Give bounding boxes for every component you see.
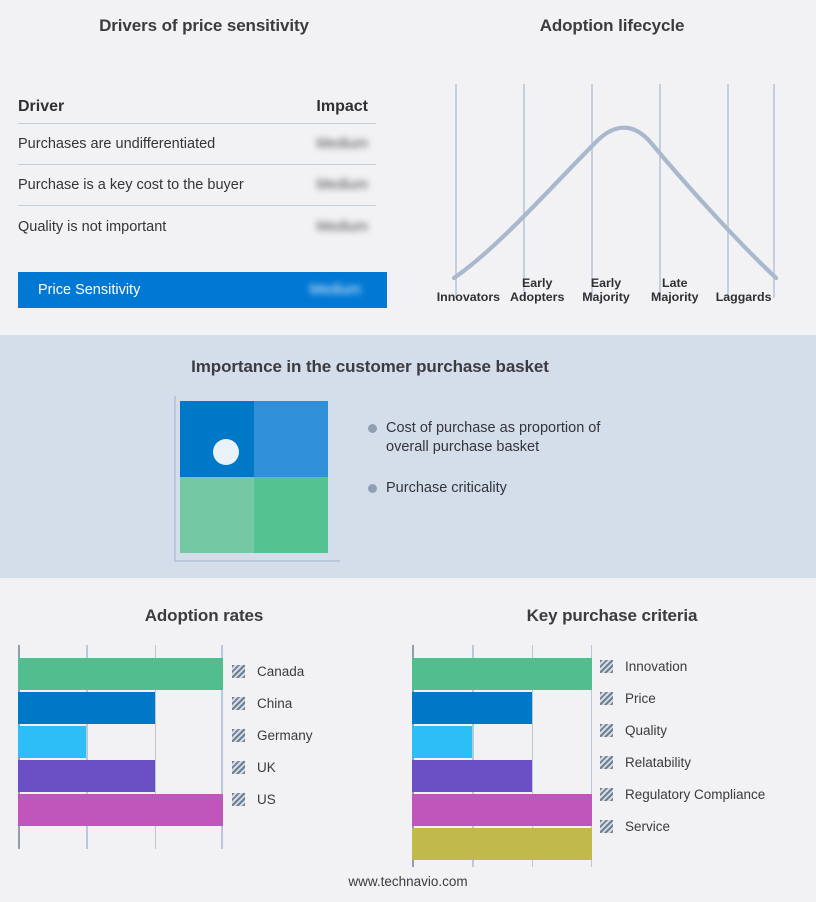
drivers-panel-title: Drivers of price sensitivity xyxy=(0,16,408,36)
legend-label: Relatability xyxy=(625,755,691,770)
lifecycle-stage-labels: Innovators Early Adopters Early Majority… xyxy=(434,264,778,306)
legend-label: Cost of purchase as proportion of overal… xyxy=(386,419,644,457)
stage-label-laggards: Laggards xyxy=(709,264,778,306)
legend-item-regulatory-compliance: Regulatory Compliance xyxy=(600,778,810,810)
list-item: Purchase criticality xyxy=(368,479,668,498)
legend-label: Purchase criticality xyxy=(386,479,507,498)
bar-row-canada xyxy=(18,658,223,690)
purchase-criteria-title: Key purchase criteria xyxy=(408,606,816,626)
bar-innovation xyxy=(412,658,592,690)
legend-label: UK xyxy=(257,760,276,775)
bar-quality xyxy=(412,726,472,758)
legend-label: Quality xyxy=(625,723,667,738)
infographic-board: Drivers of price sensitivity Driver Impa… xyxy=(0,0,816,902)
driver-label: Purchase is a key cost to the buyer xyxy=(18,177,244,193)
adoption-bar-rows xyxy=(18,658,223,826)
criteria-bar-rows xyxy=(412,658,592,860)
quadrant-bottom-right xyxy=(254,477,328,553)
hatched-swatch-icon xyxy=(600,756,613,769)
stage-line-1: Late xyxy=(662,276,687,290)
matrix-position-marker xyxy=(213,439,239,465)
table-row: Purchases are undifferentiated Medium xyxy=(18,124,376,165)
quadrant-top-left xyxy=(180,401,254,477)
legend-label: Canada xyxy=(257,664,304,679)
bar-row-quality xyxy=(412,726,592,758)
bar-price xyxy=(412,692,532,724)
legend-item-service: Service xyxy=(600,810,810,842)
drivers-table: Driver Impact Purchases are undifferenti… xyxy=(18,90,376,247)
stage-line-2: Adopters xyxy=(510,290,564,304)
footer-url: www.technavio.com xyxy=(0,874,816,889)
adoption-rates-title: Adoption rates xyxy=(0,606,408,626)
legend-label: Regulatory Compliance xyxy=(625,787,765,802)
bar-row-service xyxy=(412,828,592,860)
bar-service xyxy=(412,828,592,860)
hatched-swatch-icon xyxy=(600,820,613,833)
legend-label: Innovation xyxy=(625,659,687,674)
hatched-swatch-icon xyxy=(600,788,613,801)
table-header-row: Driver Impact xyxy=(18,90,376,124)
price-sensitivity-highlight-row: Price Sensitivity Medium xyxy=(18,272,387,308)
hatched-swatch-icon xyxy=(232,729,245,742)
purchase-criteria-chart xyxy=(412,645,592,867)
bar-row-china xyxy=(18,692,223,724)
legend-label: Price xyxy=(625,691,656,706)
drivers-panel: Drivers of price sensitivity Driver Impa… xyxy=(0,0,408,335)
quadrant-top-right xyxy=(254,401,328,477)
column-header-driver: Driver xyxy=(18,98,64,116)
bar-uk xyxy=(18,760,155,792)
impact-value: Medium xyxy=(316,136,376,152)
bar-germany xyxy=(18,726,86,758)
stage-label-early-majority: Early Majority xyxy=(572,264,641,306)
importance-matrix xyxy=(180,401,328,553)
lifecycle-panel: Adoption lifecycle Innovators xyxy=(408,0,816,335)
bar-row-relatability xyxy=(412,760,592,792)
table-row: Quality is not important Medium xyxy=(18,206,376,247)
hatched-swatch-icon xyxy=(600,660,613,673)
legend-label: China xyxy=(257,696,292,711)
adoption-rates-chart xyxy=(18,645,223,849)
legend-item-germany: Germany xyxy=(232,719,402,751)
stage-line-1: Early xyxy=(591,276,621,290)
bullet-dot-icon xyxy=(368,424,377,433)
lifecycle-panel-title: Adoption lifecycle xyxy=(408,16,816,36)
driver-label: Purchases are undifferentiated xyxy=(18,136,215,152)
hatched-swatch-icon xyxy=(232,793,245,806)
legend-item-china: China xyxy=(232,687,402,719)
legend-item-price: Price xyxy=(600,682,810,714)
impact-value: Medium xyxy=(316,219,376,235)
stage-label-innovators: Innovators xyxy=(434,264,503,306)
importance-panel-title: Importance in the customer purchase bask… xyxy=(0,357,740,377)
legend-label: Service xyxy=(625,819,670,834)
stage-line-1: Innovators xyxy=(437,290,500,304)
bar-relatability xyxy=(412,760,532,792)
bar-row-germany xyxy=(18,726,223,758)
hatched-swatch-icon xyxy=(600,724,613,737)
column-header-impact: Impact xyxy=(316,98,376,116)
stage-line-1: Early xyxy=(522,276,552,290)
stage-line-2: Majority xyxy=(651,290,699,304)
importance-panel: Importance in the customer purchase bask… xyxy=(0,335,816,578)
legend-item-uk: UK xyxy=(232,751,402,783)
legend-label: US xyxy=(257,792,276,807)
stage-label-late-majority: Late Majority xyxy=(640,264,709,306)
bar-us xyxy=(18,794,223,826)
bar-row-innovation xyxy=(412,658,592,690)
importance-legend: Cost of purchase as proportion of overal… xyxy=(368,419,668,520)
matrix-axis-left xyxy=(174,396,176,562)
hatched-swatch-icon xyxy=(232,665,245,678)
impact-value: Medium xyxy=(316,177,376,193)
matrix-axis-bottom xyxy=(174,560,340,562)
legend-item-quality: Quality xyxy=(600,714,810,746)
bullet-dot-icon xyxy=(368,484,377,493)
highlight-row-impact: Medium xyxy=(309,282,369,298)
stage-line-1: Laggards xyxy=(716,290,772,304)
bar-row-uk xyxy=(18,760,223,792)
stage-line-2: Majority xyxy=(582,290,630,304)
legend-item-us: US xyxy=(232,783,402,815)
table-row: Purchase is a key cost to the buyer Medi… xyxy=(18,165,376,206)
legend-item-relatability: Relatability xyxy=(600,746,810,778)
quadrant-bottom-left xyxy=(180,477,254,553)
bar-canada xyxy=(18,658,223,690)
bar-row-us xyxy=(18,794,223,826)
hatched-swatch-icon xyxy=(232,761,245,774)
driver-label: Quality is not important xyxy=(18,219,166,235)
bar-row-price xyxy=(412,692,592,724)
bar-china xyxy=(18,692,155,724)
legend-item-innovation: Innovation xyxy=(600,650,810,682)
highlight-row-label: Price Sensitivity xyxy=(38,282,140,298)
hatched-swatch-icon xyxy=(232,697,245,710)
purchase-criteria-legend: Innovation Price Quality Relatability Re… xyxy=(600,650,810,842)
hatched-swatch-icon xyxy=(600,692,613,705)
legend-item-canada: Canada xyxy=(232,655,402,687)
bar-regulatory-compliance xyxy=(412,794,592,826)
list-item: Cost of purchase as proportion of overal… xyxy=(368,419,668,457)
legend-label: Germany xyxy=(257,728,313,743)
adoption-rates-legend: Canada China Germany UK US xyxy=(232,655,402,815)
stage-label-early-adopters: Early Adopters xyxy=(503,264,572,306)
bar-row-regulatory-compliance xyxy=(412,794,592,826)
